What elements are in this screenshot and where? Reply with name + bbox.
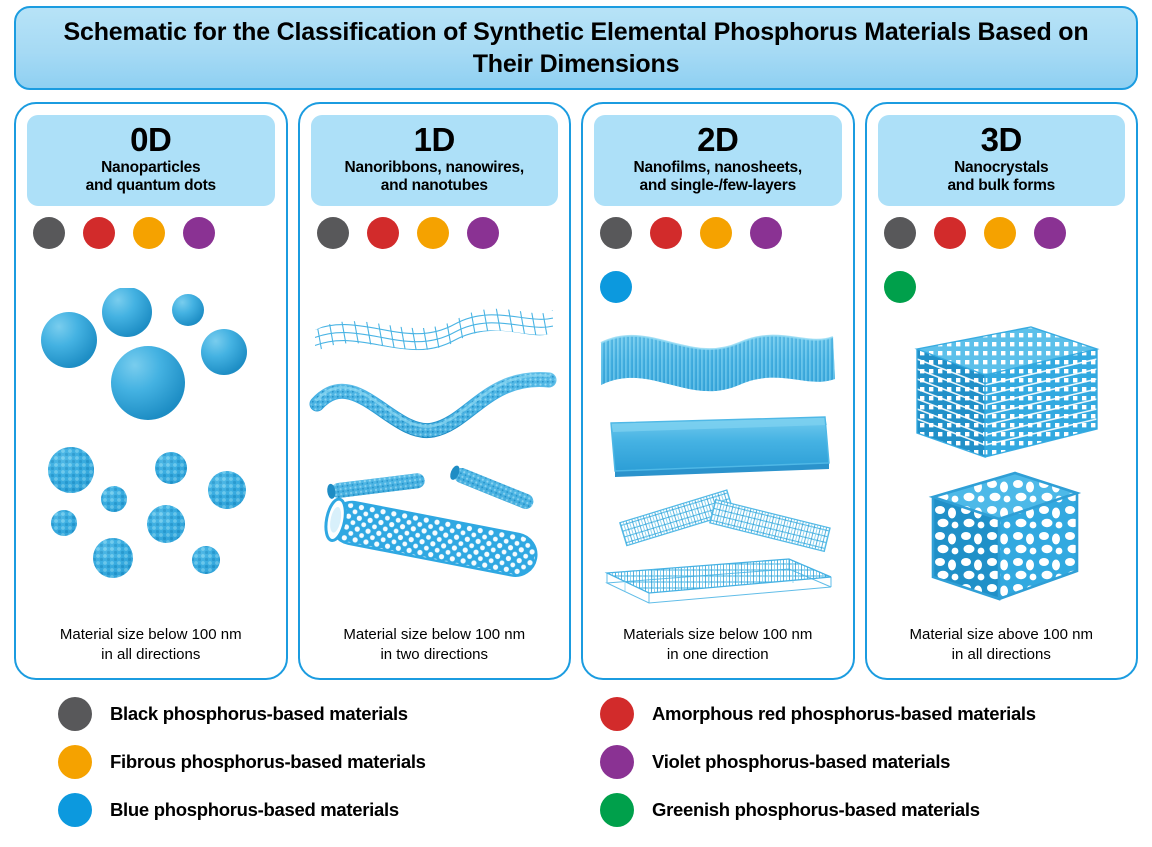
panel-0d-color-dots bbox=[33, 217, 269, 249]
dot-black-phosphorus bbox=[600, 217, 632, 249]
dot-amorphous-red-phosphorus bbox=[367, 217, 399, 249]
nanoribbon-lattice bbox=[309, 289, 559, 371]
layered-nanocrystal-cube bbox=[917, 327, 1097, 457]
dot-fibrous-phosphorus bbox=[984, 217, 1016, 249]
panel-1d-caption: Material size below 100 nm in two direct… bbox=[300, 625, 570, 678]
wavy-nanosheet bbox=[593, 321, 843, 421]
dot-greenish-phosphorus bbox=[884, 271, 916, 303]
legend-item-greenish-phosphorus: Greenish phosphorus-based materials bbox=[574, 793, 1138, 827]
panel-1d-subtitle: Nanoribbons, nanowires, and nanotubes bbox=[315, 159, 555, 196]
legend-item-fibrous-phosphorus: Fibrous phosphorus-based materials bbox=[14, 745, 574, 779]
dimension-panels-row: 0D Nanoparticles and quantum dots bbox=[14, 102, 1138, 680]
dot-violet-phosphorus bbox=[183, 217, 215, 249]
dot-black-phosphorus bbox=[884, 217, 916, 249]
panel-1d-header: 1D Nanoribbons, nanowires, and nanotubes bbox=[311, 115, 559, 206]
nanowire bbox=[317, 375, 549, 430]
dot-amorphous-red-phosphorus bbox=[934, 217, 966, 249]
legend-item-violet-phosphorus: Violet phosphorus-based materials bbox=[574, 745, 1138, 779]
panel-2d[interactable]: 2D Nanofilms, nanosheets, and single-/fe… bbox=[581, 102, 855, 680]
dot-amorphous-red-phosphorus bbox=[650, 217, 682, 249]
flat-nanofilm bbox=[611, 417, 829, 477]
panel-3d-dimension-label: 3D bbox=[882, 122, 1122, 158]
dot-violet-phosphorus bbox=[467, 217, 499, 249]
illustration-nanoribbons-nanowires-nanotubes bbox=[300, 249, 570, 625]
dot-fibrous-phosphorus bbox=[700, 217, 732, 249]
few-layer-lattice-sheet bbox=[607, 559, 831, 603]
legend-label-blue-phosphorus: Blue phosphorus-based materials bbox=[110, 799, 399, 821]
small-nanotube-left bbox=[327, 472, 426, 499]
panel-0d[interactable]: 0D Nanoparticles and quantum dots bbox=[14, 102, 288, 680]
illustration-nanocrystals-and-bulk-forms bbox=[867, 303, 1137, 625]
panel-2d-color-dots bbox=[600, 217, 836, 303]
panel-0d-caption: Material size below 100 nm in all direct… bbox=[16, 625, 286, 678]
dot-black-phosphorus bbox=[33, 217, 65, 249]
smooth-nanoparticle-group bbox=[41, 288, 247, 420]
legend-label-violet-phosphorus: Violet phosphorus-based materials bbox=[652, 751, 950, 773]
legend: Black phosphorus-based materials Amorpho… bbox=[14, 690, 1138, 842]
panel-2d-dimension-label: 2D bbox=[598, 122, 838, 158]
legend-label-amorphous-red-phosphorus: Amorphous red phosphorus-based materials bbox=[652, 703, 1036, 725]
legend-label-black-phosphorus: Black phosphorus-based materials bbox=[110, 703, 408, 725]
legend-label-fibrous-phosphorus: Fibrous phosphorus-based materials bbox=[110, 751, 426, 773]
dot-violet-phosphorus bbox=[750, 217, 782, 249]
page-title: Schematic for the Classification of Synt… bbox=[16, 16, 1136, 80]
tilted-layer-right bbox=[710, 499, 830, 551]
panel-3d-color-dots bbox=[884, 217, 1120, 303]
legend-item-black-phosphorus: Black phosphorus-based materials bbox=[14, 697, 574, 731]
legend-swatch-black-phosphorus bbox=[58, 697, 92, 731]
panel-0d-header: 0D Nanoparticles and quantum dots bbox=[27, 115, 275, 206]
legend-item-amorphous-red-phosphorus: Amorphous red phosphorus-based materials bbox=[574, 697, 1138, 731]
legend-swatch-greenish-phosphorus bbox=[600, 793, 634, 827]
dot-black-phosphorus bbox=[317, 217, 349, 249]
legend-swatch-blue-phosphorus bbox=[58, 793, 92, 827]
panel-1d-dimension-label: 1D bbox=[315, 122, 555, 158]
small-nanotube-right bbox=[449, 464, 536, 511]
panel-2d-header: 2D Nanofilms, nanosheets, and single-/fe… bbox=[594, 115, 842, 206]
illustration-nanoparticles-and-quantum-dots bbox=[16, 249, 286, 625]
legend-swatch-amorphous-red-phosphorus bbox=[600, 697, 634, 731]
schematic-title-banner: Schematic for the Classification of Synt… bbox=[14, 6, 1138, 90]
dot-violet-phosphorus bbox=[1034, 217, 1066, 249]
dot-fibrous-phosphorus bbox=[417, 217, 449, 249]
panel-1d[interactable]: 1D Nanoribbons, nanowires, and nanotubes bbox=[298, 102, 572, 680]
legend-label-greenish-phosphorus: Greenish phosphorus-based materials bbox=[652, 799, 980, 821]
panel-2d-subtitle: Nanofilms, nanosheets, and single-/few-l… bbox=[598, 159, 838, 196]
panel-1d-color-dots bbox=[317, 217, 553, 249]
illustration-nanofilms-nanosheets-layers bbox=[583, 303, 853, 625]
dot-amorphous-red-phosphorus bbox=[83, 217, 115, 249]
large-nanotube bbox=[323, 497, 540, 579]
panel-3d-subtitle: Nanocrystals and bulk forms bbox=[882, 159, 1122, 196]
panel-3d-caption: Material size above 100 nm in all direct… bbox=[867, 625, 1137, 678]
legend-swatch-fibrous-phosphorus bbox=[58, 745, 92, 779]
legend-item-blue-phosphorus: Blue phosphorus-based materials bbox=[14, 793, 574, 827]
dot-fibrous-phosphorus bbox=[133, 217, 165, 249]
porous-bulk-cube bbox=[933, 473, 1077, 599]
panel-2d-caption: Materials size below 100 nm in one direc… bbox=[583, 625, 853, 678]
panel-0d-dimension-label: 0D bbox=[31, 122, 271, 158]
panel-3d[interactable]: 3D Nanocrystals and bulk forms bbox=[865, 102, 1139, 680]
legend-swatch-violet-phosphorus bbox=[600, 745, 634, 779]
panel-3d-header: 3D Nanocrystals and bulk forms bbox=[878, 115, 1126, 206]
quantum-dot-group bbox=[48, 447, 246, 578]
dot-blue-phosphorus bbox=[600, 271, 632, 303]
panel-0d-subtitle: Nanoparticles and quantum dots bbox=[31, 159, 271, 196]
